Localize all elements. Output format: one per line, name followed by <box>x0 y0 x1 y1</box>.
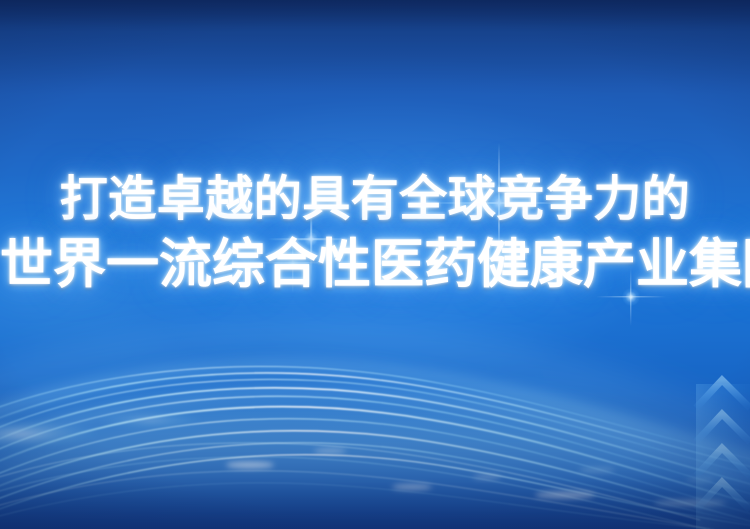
headline-block: 打造卓越的具有全球竞争力的 世界一流综合性医药健康产业集团 <box>0 168 750 298</box>
headline-line-1: 打造卓越的具有全球竞争力的 <box>0 168 750 230</box>
wave-ridge-group <box>0 336 750 529</box>
streak-fan-lower-left <box>0 443 714 529</box>
promotional-banner: 打造卓越的具有全球竞争力的 世界一流综合性医药健康产业集团 <box>0 0 750 529</box>
streak-filament-group <box>0 366 750 529</box>
streak-convergence-knot <box>0 412 204 448</box>
upward-chevron-stack-icon <box>692 368 750 529</box>
streak-sparkle-group <box>226 449 726 507</box>
headline-line-2: 世界一流综合性医药健康产业集团 <box>0 230 750 298</box>
wave-highlight-group <box>0 365 750 496</box>
